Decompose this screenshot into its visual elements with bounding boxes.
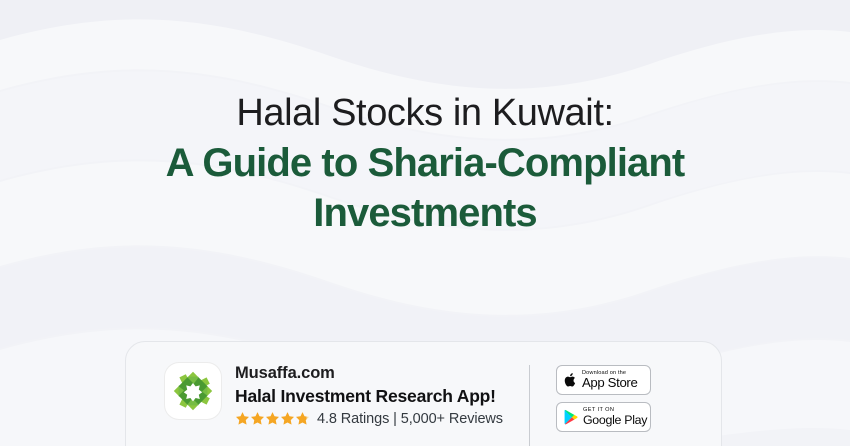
app-store-big-label: App Store <box>582 376 638 390</box>
headline-block: Halal Stocks in Kuwait: A Guide to Shari… <box>0 0 850 330</box>
star-icon <box>265 411 280 426</box>
rating-label: 4.8 Ratings | 5,000+ Reviews <box>317 411 503 427</box>
app-store-badge[interactable]: Download on the App Store <box>556 365 651 395</box>
page-title-line-2: A Guide to Sharia-Compliant Investments <box>75 139 775 238</box>
rating-row: 4.8 Ratings | 5,000+ Reviews <box>235 411 503 427</box>
star-icon <box>250 411 265 426</box>
google-play-labels: GET IT ON Google Play <box>583 407 647 426</box>
google-play-icon <box>564 409 578 425</box>
app-store-labels: Download on the App Store <box>582 370 638 390</box>
star-rating <box>235 411 310 426</box>
star-icon-partial <box>295 411 310 426</box>
store-badges-group: Download on the App Store GET IT ON Goog… <box>556 365 651 432</box>
app-brand-name: Musaffa.com <box>235 362 503 385</box>
apple-icon <box>564 372 577 388</box>
star-icon <box>280 411 295 426</box>
app-info-group: Musaffa.com Halal Investment Research Ap… <box>126 361 503 427</box>
app-promo-card: Musaffa.com Halal Investment Research Ap… <box>125 341 722 446</box>
page-title-line-1: Halal Stocks in Kuwait: <box>236 91 613 136</box>
google-play-badge[interactable]: GET IT ON Google Play <box>556 402 651 432</box>
star-icon <box>235 411 250 426</box>
google-play-big-label: Google Play <box>583 414 647 427</box>
app-text-column: Musaffa.com Halal Investment Research Ap… <box>235 361 503 427</box>
musaffa-star-logo-icon <box>173 371 213 411</box>
app-tagline: Halal Investment Research App! <box>235 385 503 409</box>
app-logo-tile <box>165 363 221 419</box>
card-divider <box>529 365 530 446</box>
